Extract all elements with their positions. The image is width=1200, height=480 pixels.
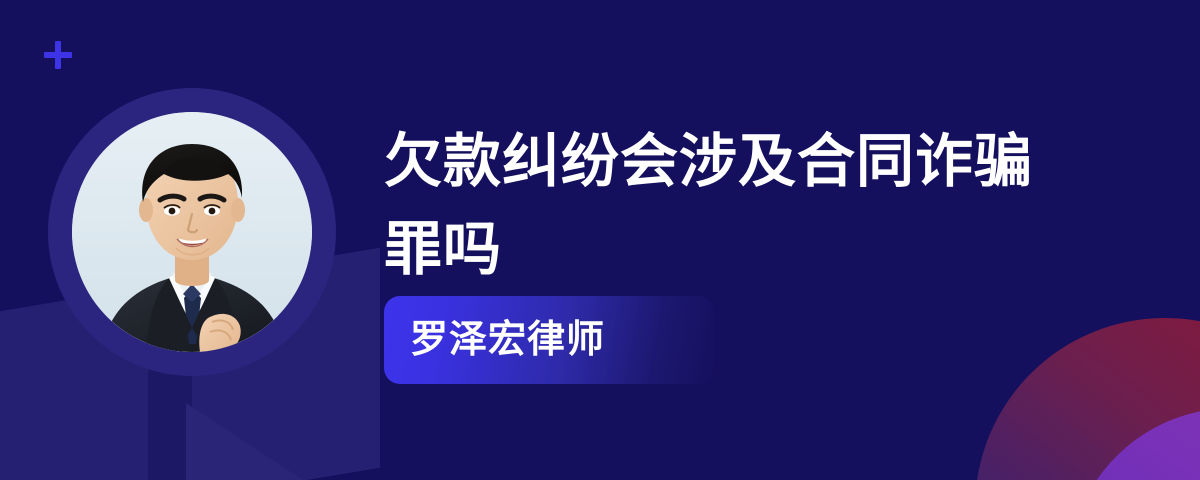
plus-icon-vertical-bar [55,41,61,69]
author-name-button[interactable]: 罗泽宏律师 [384,296,714,384]
content-area: 欠款纠纷会涉及合同诈骗 罪吗 罗泽宏律师 [384,0,1124,480]
plus-icon [44,41,72,69]
lawyer-qa-banner: 欠款纠纷会涉及合同诈骗 罪吗 罗泽宏律师 [0,0,1200,480]
triangle-shape [186,398,306,480]
page-title: 欠款纠纷会涉及合同诈骗 罪吗 [384,118,1084,294]
avatar [48,88,336,376]
avatar-photo [72,112,312,352]
